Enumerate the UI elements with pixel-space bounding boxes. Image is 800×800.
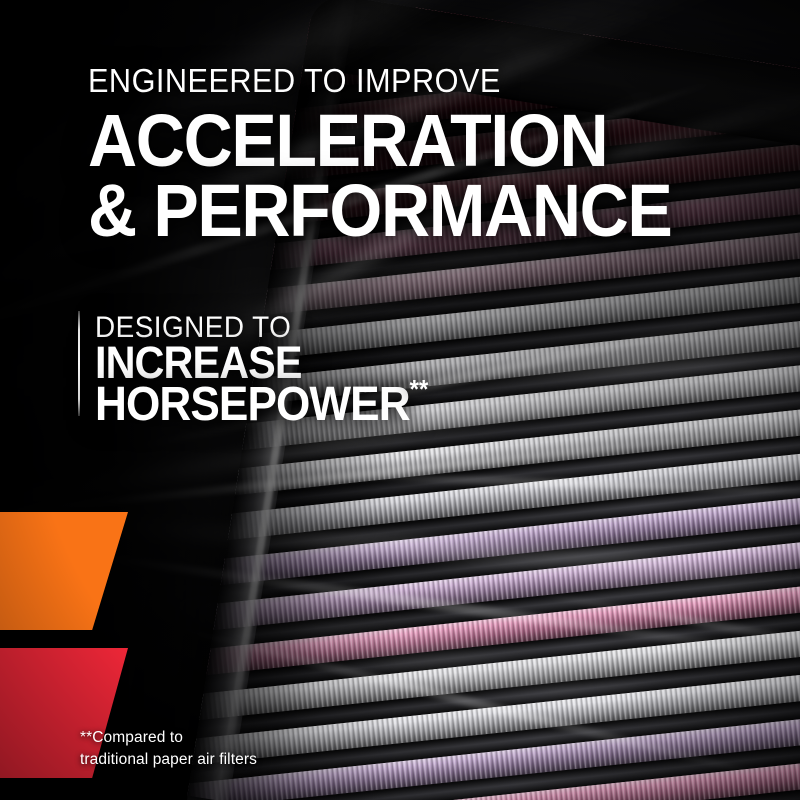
smoke-wisp (126, 316, 735, 455)
smoke-wisp (380, 342, 800, 390)
smoke-wisp (64, 76, 676, 436)
smoke-wisp (0, 427, 778, 521)
smoke-wisp (300, 470, 800, 498)
smoke-wisp (60, 514, 800, 585)
smoke-wisp (0, 76, 720, 364)
airflow-smoke-effect (0, 0, 800, 800)
smoke-wisp (421, 536, 800, 598)
smoke-wisp (522, 587, 800, 661)
smoke-wisp (106, 582, 794, 743)
smoke-wisp (0, 0, 673, 319)
smoke-wisp (0, 0, 587, 251)
smoke-wisp (256, 0, 800, 140)
smoke-wisp (168, 623, 791, 787)
marketing-banner: ENGINEERED TO IMPROVE ACCELERATION & PER… (0, 0, 800, 800)
smoke-wisp (0, 355, 795, 518)
smoke-wisp (447, 82, 800, 207)
smoke-wisp (43, 544, 800, 665)
smoke-wisp (0, 206, 671, 414)
